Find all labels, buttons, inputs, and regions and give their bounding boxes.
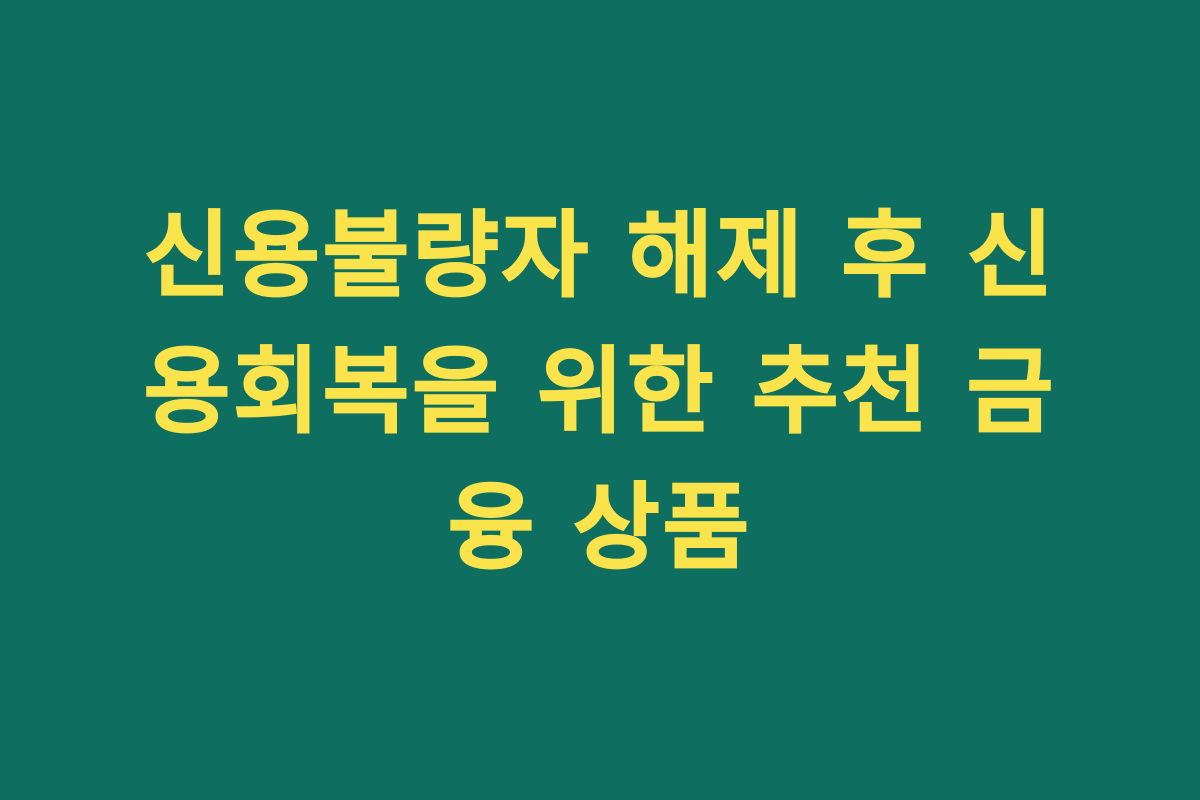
- title-banner: 신용불량자 해제 후 신 용회복을 위한 추천 금 융 상품: [0, 0, 1200, 800]
- banner-title: 신용불량자 해제 후 신 용회복을 위한 추천 금 융 상품: [120, 189, 1080, 597]
- title-line-3: 융 상품: [120, 461, 1080, 597]
- title-line-2: 용회복을 위한 추천 금: [120, 325, 1080, 461]
- title-line-1: 신용불량자 해제 후 신: [120, 189, 1080, 325]
